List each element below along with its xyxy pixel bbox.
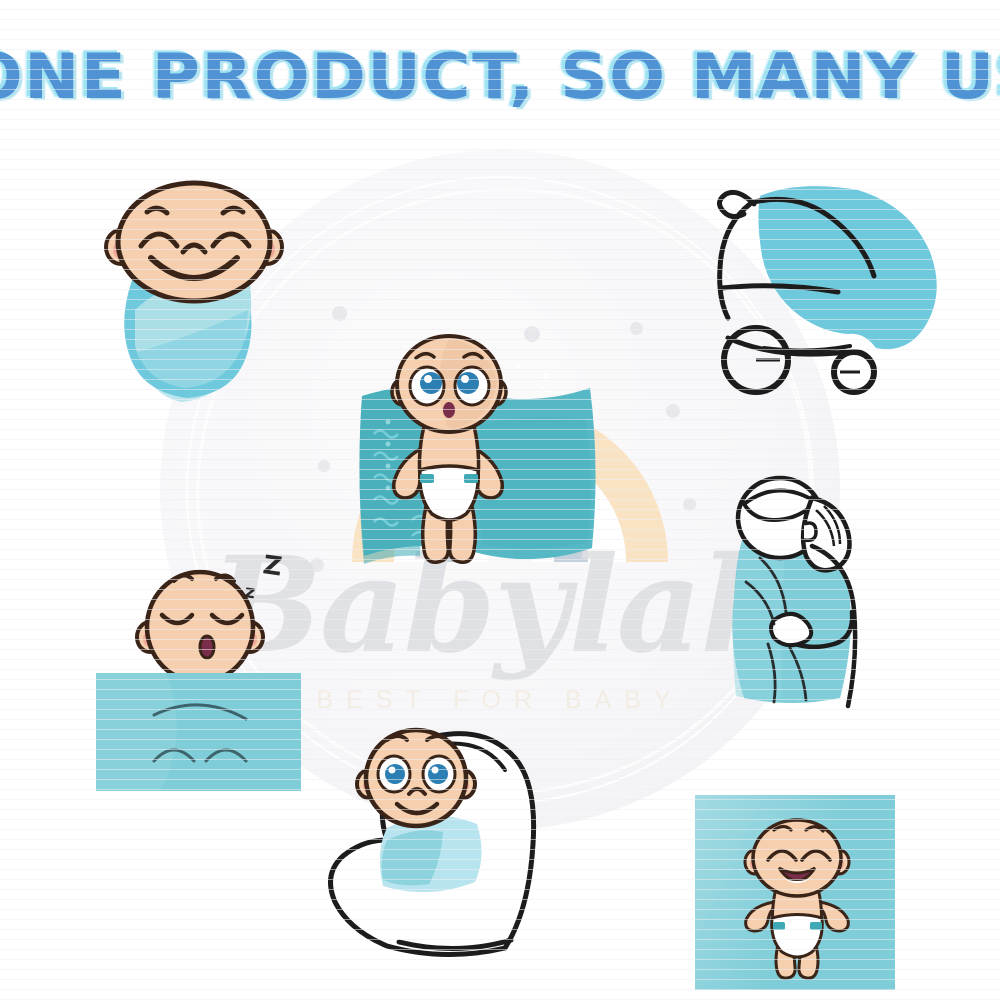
illustration-stroller-cover — [688, 182, 943, 407]
decor-dot — [310, 558, 324, 572]
illustration-nursing-cover — [708, 462, 918, 712]
illustration-tummy-mat — [722, 818, 872, 978]
page-title: ONE PRODUCT, SO MANY USES — [0, 40, 1000, 113]
illustration-sleep-blanket: Z z — [92, 545, 307, 795]
illustration-car-seat — [315, 722, 570, 967]
illustration-play-mat — [348, 330, 678, 575]
sleep-symbol-z-large: Z — [261, 550, 284, 582]
decor-dot — [318, 460, 330, 472]
illustration-swaddled-baby — [95, 180, 300, 410]
poster-canvas: ONE PRODUCT, SO MANY USES — [0, 0, 1000, 1000]
poster-title-container: ONE PRODUCT, SO MANY USES — [0, 40, 1000, 113]
decor-dot — [683, 498, 696, 511]
